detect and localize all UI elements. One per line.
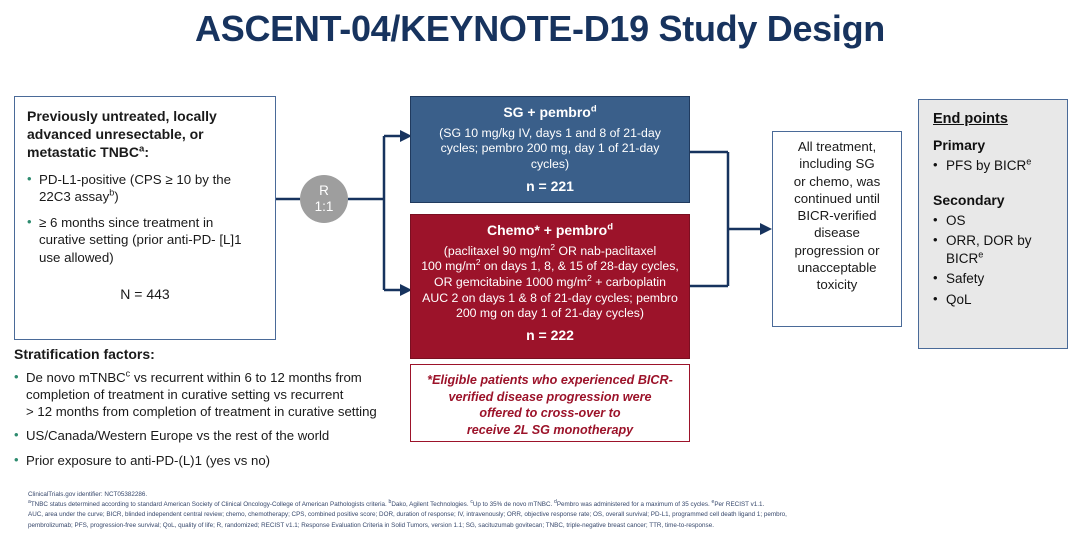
eligibility-heading-line-1: Previously untreated, locally [27,108,217,124]
eligibility-bullet-1: • PD-L1-positive (CPS ≥ 10 by the 22C3 a… [27,171,263,206]
bullet-glyph-icon: • [933,212,946,230]
eligibility-heading-line-2: advanced unresectable, or [27,126,204,142]
eligibility-heading-line-3: metastatic TNBC [27,144,139,160]
bullet-glyph-icon: • [14,427,26,444]
continuation-line-4: continued until [794,191,880,206]
endpoints-primary-item-text: PFS by BICRe [946,157,1059,175]
endpoints-secondary-item-2-superscript: e [978,249,983,259]
endpoints-secondary-item: • QoL [933,291,1059,309]
continuation-line-8: unacceptable [797,260,876,275]
eligibility-bullet-1-text: PD-L1-positive (CPS ≥ 10 by the 22C3 ass… [39,171,263,206]
bullet-glyph-icon: • [933,291,946,309]
endpoints-heading: End points [933,110,1059,129]
stratification-item-3: • Prior exposure to anti-PD-(L)1 (yes vs… [14,452,414,469]
continuation-line-2: including SG [799,156,874,171]
footnote-definition-e: Per RECIST v1.1. [714,501,764,508]
arm-chemo-sample-size: n = 222 [417,327,683,345]
stratification-item-2-text: US/Canada/Western Europe vs the rest of … [26,427,414,444]
arm-chemo-pembro-box: Chemo* + pembrod (paclitaxel 90 mg/m2 OR… [410,214,690,359]
bullet-glyph-icon: • [933,270,946,288]
bullet-glyph-icon: • [14,369,26,420]
stratification-factors-section: Stratification factors: • De novo mTNBCc… [14,346,414,469]
stratification-item-1-text: De novo mTNBCc vs recurrent within 6 to … [26,369,414,420]
arm-chemo-heading: Chemo* + pembrod [417,222,683,240]
bullet-glyph-icon: • [14,452,26,469]
endpoints-secondary-item: • ORR, DOR byBICRe [933,232,1059,267]
eligibility-bullet-2-line-1: ≥ 6 months since treatment in [39,215,213,230]
crossover-line-2: verified disease progression were [449,390,652,404]
eligibility-bullet-2: • ≥ 6 months since treatment in curative… [27,214,263,266]
footnotes-section: ClinicalTrials.gov identifier: NCT053822… [28,490,1068,531]
randomization-circle: R 1:1 [300,175,348,223]
stratification-heading: Stratification factors: [14,346,414,362]
footnote-superscript-definitions: aTNBC status determined according to sta… [28,500,1068,510]
stratification-item-1-line-2: completion of treatment in curative sett… [26,387,343,402]
arm-chemo-desc-line-5: 200 mg on day 1 of 21-day cycles) [456,306,644,320]
arm-sg-desc-line-3: cycles) [531,157,569,171]
endpoints-box: End points Primary • PFS by BICRe Second… [918,99,1068,349]
endpoints-secondary-item-3-label: Safety [946,270,1059,288]
endpoints-secondary-item-1-label: OS [946,212,1059,230]
stratification-item-1-line-1a: De novo mTNBC [26,370,126,385]
randomization-label: R [300,183,348,199]
footnote-abbreviations-line-2: pembrolizumab; PFS, progression-free sur… [28,521,1068,531]
crossover-line-3: offered to cross-over to [479,406,620,420]
slide-canvas: ASCENT-04/KEYNOTE-D19 Study Design Previ… [0,0,1080,536]
endpoints-primary-label: Primary [933,136,1059,154]
stratification-item-2: • US/Canada/Western Europe vs the rest o… [14,427,414,444]
arm-sg-heading: SG + pembrod [419,104,681,122]
eligibility-bullet-2-line-2: curative setting (prior anti-PD- [39,232,216,247]
footnote-abbreviations-line-1: AUC, area under the curve; BICR, blinded… [28,510,1068,520]
eligibility-bullet-1-close: ) [114,189,118,204]
arm-sg-desc-line-2: cycles; pembro 200 mg, day 1 of 21-day [441,141,660,155]
crossover-line-4: receive 2L SG monotherapy [467,423,633,437]
arm-chemo-heading-superscript: d [607,221,613,232]
endpoints-secondary-item-2-line-2: BICR [946,251,978,266]
arm-sg-heading-superscript: d [591,103,597,114]
endpoints-secondary-item-2-line-1: ORR, DOR by [946,233,1032,248]
randomization-ratio: 1:1 [300,199,348,215]
endpoints-secondary-label: Secondary [933,191,1059,209]
arm-chemo-desc-3b: + carboplatin [592,275,666,289]
bullet-glyph-icon: • [27,214,39,266]
stratification-item-1-line-3: > 12 months from completion of treatment… [26,404,377,419]
endpoints-secondary-item: • OS [933,212,1059,230]
arm-chemo-desc-1b: OR nab-paclitaxel [555,244,656,258]
stratification-item-1-line-1b: vs recurrent within 6 to 12 months from [130,370,362,385]
stratification-item-3-text: Prior exposure to anti-PD-(L)1 (yes vs n… [26,452,414,469]
stratification-item-1: • De novo mTNBCc vs recurrent within 6 t… [14,369,414,420]
arm-sg-sample-size: n = 221 [419,178,681,196]
arm-chemo-heading-text: Chemo* + pembro [487,222,607,238]
continuation-line-9: toxicity [817,277,858,292]
footnote-definition-d: Pembro was administered for a maximum of… [557,501,712,508]
arm-sg-desc-line-1: (SG 10 mg/kg IV, days 1 and 8 of 21-day [439,126,661,140]
continuation-line-1: All treatment, [798,139,876,154]
eligibility-heading: Previously untreated, locally advanced u… [27,107,263,162]
endpoints-secondary-item: • Safety [933,270,1059,288]
arm-chemo-desc-2a: 100 mg/m [421,259,476,273]
continuation-line-6: disease [814,225,860,240]
arm-sg-description: (SG 10 mg/kg IV, days 1 and 8 of 21-day … [419,126,681,173]
eligibility-bullet-2-text: ≥ 6 months since treatment in curative s… [39,214,263,266]
bullet-glyph-icon: • [933,157,946,175]
continuation-line-3: or chemo, was [794,174,880,189]
endpoints-secondary-item-2-text: ORR, DOR byBICRe [946,232,1059,267]
footnote-definition-b: Dako, Agilent Technologies. [391,501,470,508]
footnote-trial-identifier: ClinicalTrials.gov identifier: NCT053822… [28,490,1068,500]
bullet-glyph-icon: • [933,232,946,267]
endpoints-primary-item-label: PFS by BICR [946,158,1026,173]
eligibility-heading-colon: : [144,144,149,160]
arm-sg-heading-text: SG + pembro [503,104,591,120]
footnote-definition-a: TNBC status determined according to stan… [31,501,389,508]
arm-chemo-description: (paclitaxel 90 mg/m2 OR nab-paclitaxel 1… [417,244,683,322]
continuation-line-7: progression or [795,243,880,258]
bullet-glyph-icon: • [27,171,39,206]
arm-chemo-desc-2b: on days 1, 8, & 15 of 28-day cycles, [481,259,679,273]
arm-sg-pembro-box: SG + pembrod (SG 10 mg/kg IV, days 1 and… [410,96,690,203]
eligibility-bullet-1-line-1: PD-L1-positive (CPS ≥ 10 by [39,172,209,187]
endpoints-primary-item: • PFS by BICRe [933,157,1059,175]
treatment-continuation-box: All treatment, including SG or chemo, wa… [772,131,902,327]
continuation-line-5: BICR-verified [797,208,876,223]
crossover-line-1: *Eligible patients who experienced BICR- [427,373,673,387]
crossover-note-box: *Eligible patients who experienced BICR-… [410,364,690,442]
arm-chemo-desc-1a: (paclitaxel 90 mg/m [444,244,551,258]
endpoints-secondary-item-4-label: QoL [946,291,1059,309]
endpoints-primary-item-superscript: e [1026,157,1031,167]
arm-chemo-desc-3a: OR gemcitabine 1000 mg/m [434,275,587,289]
eligibility-total-n: N = 443 [27,286,263,304]
eligibility-box: Previously untreated, locally advanced u… [14,96,276,340]
footnote-definition-c: Up to 35% de novo mTNBC. [473,501,554,508]
arm-chemo-desc-line-4: AUC 2 on days 1 & 8 of 21-day cycles; pe… [422,291,678,305]
